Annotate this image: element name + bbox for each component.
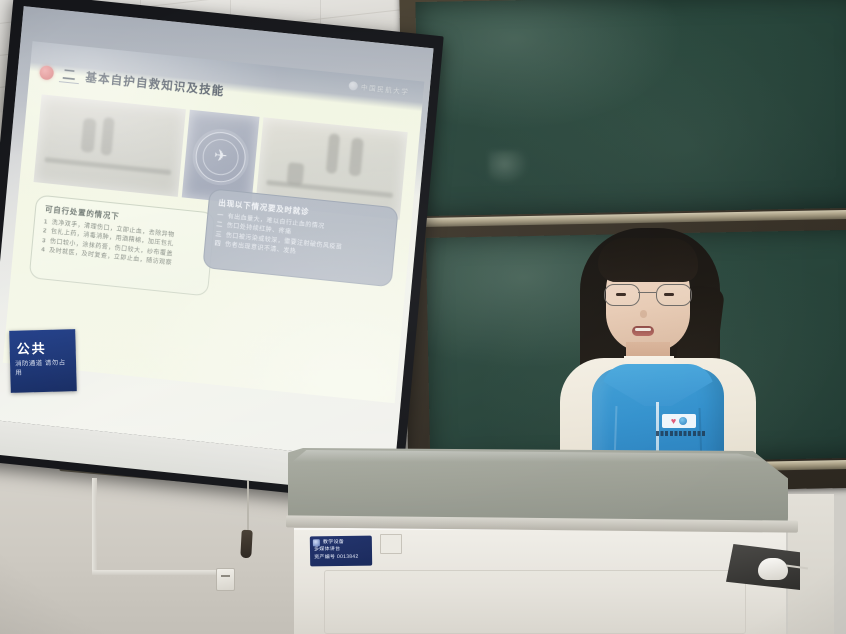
- podium-top-surface: [288, 448, 788, 524]
- nose: [640, 310, 647, 318]
- section-badge-icon: [39, 65, 54, 80]
- volunteer-badge-icon: ♥: [662, 414, 696, 428]
- wall-sign-sub-text: 消防通道 请勿占用: [15, 359, 72, 378]
- slide-photo-left: [34, 94, 186, 197]
- heart-icon: ♥: [671, 417, 676, 426]
- podium-small-tag: [380, 534, 402, 554]
- podium-asset-label: 教学设备 多媒体讲台 资产编号 0013842: [310, 536, 372, 567]
- asset-label-logo-icon: [313, 539, 320, 546]
- projection-surface: 中国民航大学 二 基本自护自救知识及技能 ✈: [0, 6, 434, 462]
- asset-label-line3: 资产编号 0013842: [314, 553, 368, 561]
- eye-right: [664, 293, 674, 296]
- eye-left: [616, 293, 626, 296]
- wall-sign-public-notice: 公共 消防通道 请勿占用: [9, 329, 77, 393]
- podium-front-panel: [324, 570, 746, 634]
- badge-emblem-icon: [679, 417, 687, 425]
- hair-fringe: [598, 238, 698, 282]
- classroom-photo-scene: 中国民航大学 二 基本自护自救知识及技能 ✈: [0, 0, 846, 634]
- wall-conduit-vertical: [92, 478, 97, 574]
- slide-left-textbox: 可自行处置的情况下 1 洗净双手，清理伤口，立即止血，去除异物 2 包扎上药，消…: [29, 194, 216, 296]
- wall-sign-main-text: 公共: [16, 338, 47, 358]
- chalkboard-panel-upper: [415, 0, 846, 216]
- wall-power-outlet[interactable]: [216, 568, 235, 591]
- emblem-glyph: ✈: [201, 137, 240, 177]
- vest-printed-text: [656, 431, 706, 436]
- screen-pull-cord[interactable]: [247, 480, 249, 532]
- university-mark-icon: [349, 80, 359, 90]
- university-emblem-icon: ✈: [193, 130, 247, 185]
- mouth: [632, 326, 654, 336]
- wall-conduit-horizontal: [92, 570, 220, 575]
- lecture-podium: 教学设备 多媒体讲台 资产编号 0013842: [288, 448, 822, 634]
- pull-cord-weight[interactable]: [240, 530, 252, 559]
- section-marker: 二: [59, 67, 80, 84]
- wireless-mouse[interactable]: [758, 558, 788, 580]
- projector-screen: 中国民航大学 二 基本自护自救知识及技能 ✈: [0, 0, 444, 504]
